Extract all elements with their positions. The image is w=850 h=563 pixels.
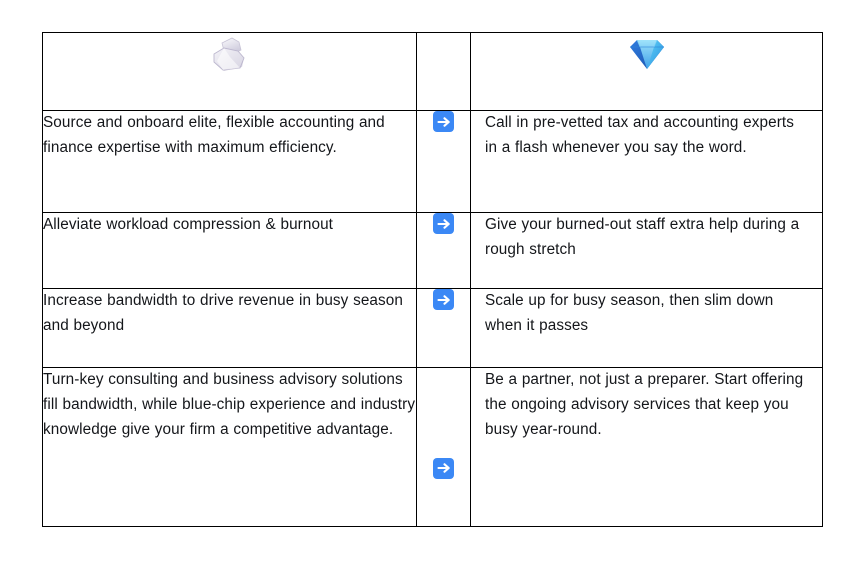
- gem-icon: [471, 33, 822, 73]
- comparison-table: Source and onboard elite, flexible accou…: [42, 32, 823, 527]
- right-arrow-icon: [433, 213, 454, 234]
- right-arrow-icon: [433, 111, 454, 132]
- arrow-cell-4: [417, 368, 471, 527]
- rock-icon: [43, 33, 416, 74]
- right-arrow-icon: [433, 458, 454, 479]
- pain-cell-1: Source and onboard elite, flexible accou…: [43, 111, 417, 213]
- table-header: [43, 33, 823, 111]
- header-cell-gem: [471, 33, 823, 111]
- pain-cell-4: Turn-key consulting and business advisor…: [43, 368, 417, 527]
- arrow-cell-1: [417, 111, 471, 213]
- pain-cell-3: Increase bandwidth to drive revenue in b…: [43, 289, 417, 368]
- gain-cell-1: Call in pre-vetted tax and accounting ex…: [471, 111, 823, 213]
- arrow-cell-3: [417, 289, 471, 368]
- page-root: Source and onboard elite, flexible accou…: [0, 0, 850, 563]
- table-row: Turn-key consulting and business advisor…: [43, 368, 823, 527]
- table-row: Source and onboard elite, flexible accou…: [43, 111, 823, 213]
- rock-icon-shape: [208, 34, 252, 74]
- table-row: Increase bandwidth to drive revenue in b…: [43, 289, 823, 368]
- gain-cell-2: Give your burned-out staff extra help du…: [471, 213, 823, 289]
- gain-cell-4: Be a partner, not just a preparer. Start…: [471, 368, 823, 527]
- pain-cell-2: Alleviate workload compression & burnout: [43, 213, 417, 289]
- table-body: Source and onboard elite, flexible accou…: [43, 111, 823, 527]
- header-row: [43, 33, 823, 111]
- header-cell-spacer: [417, 33, 471, 111]
- right-arrow-icon: [433, 289, 454, 310]
- table-row: Alleviate workload compression & burnout…: [43, 213, 823, 289]
- header-cell-rock: [43, 33, 417, 111]
- arrow-cell-2: [417, 213, 471, 289]
- gem-icon-shape: [626, 35, 668, 73]
- gain-cell-3: Scale up for busy season, then slim down…: [471, 289, 823, 368]
